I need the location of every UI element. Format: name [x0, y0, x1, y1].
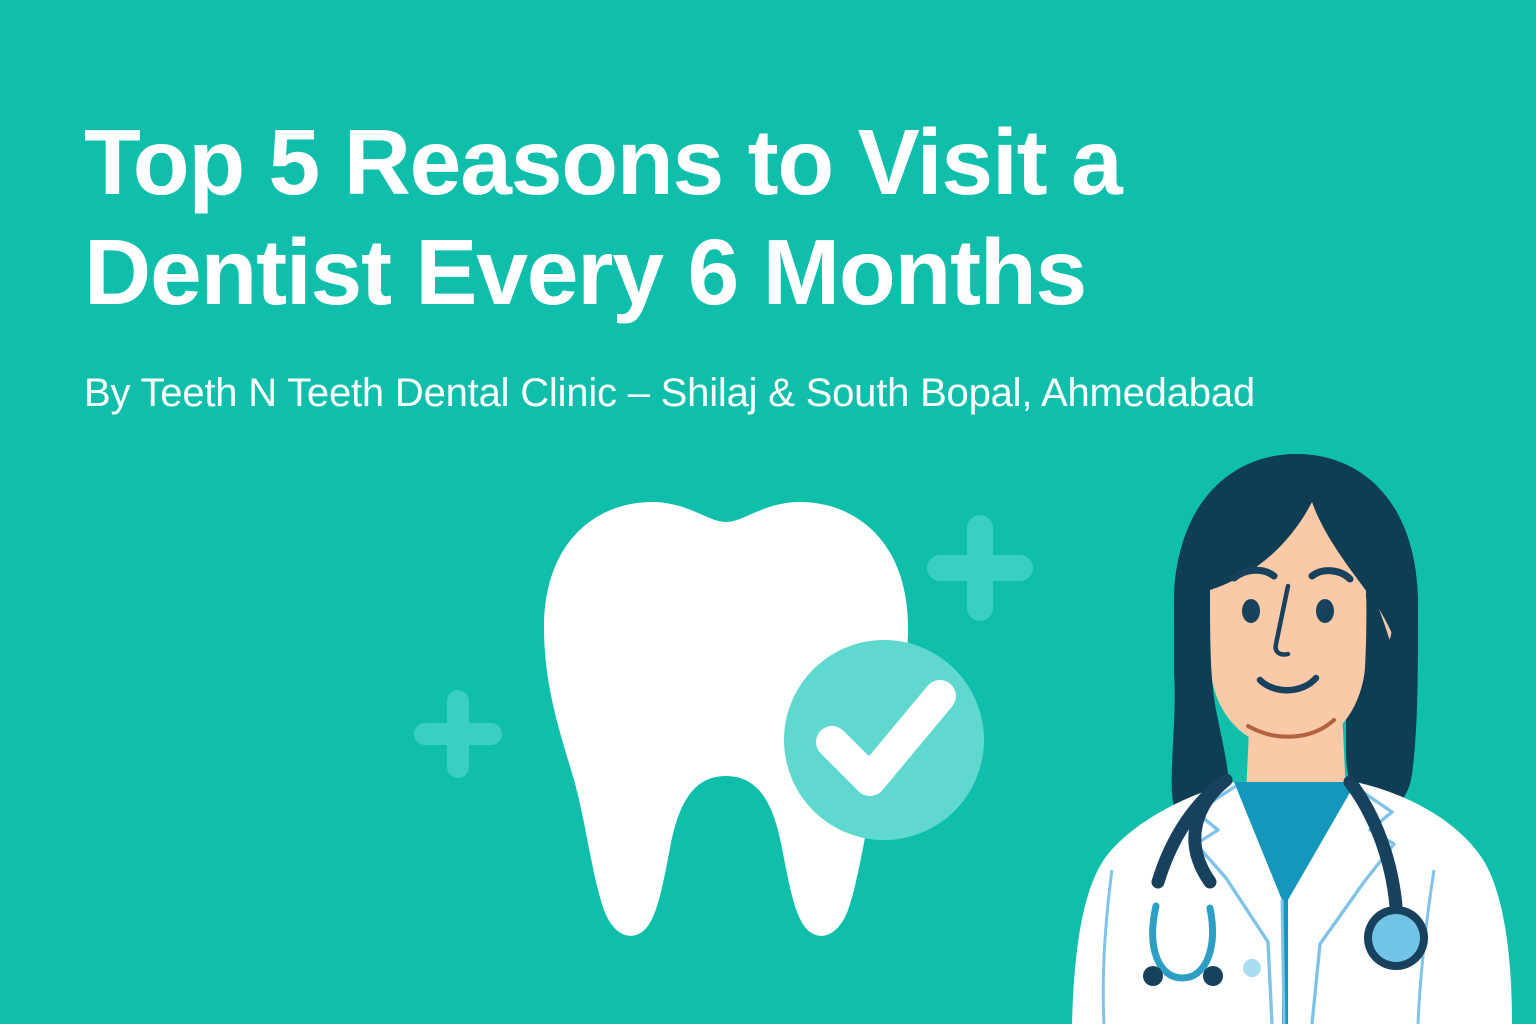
dentist-illustration	[1020, 430, 1536, 1024]
eye-left	[1242, 599, 1260, 623]
eye-right	[1316, 599, 1334, 623]
text-block: Top 5 Reasons to Visit a Dentist Every 6…	[84, 108, 1484, 417]
dental-promo-banner: Top 5 Reasons to Visit a Dentist Every 6…	[0, 0, 1536, 1024]
page-title: Top 5 Reasons to Visit a Dentist Every 6…	[84, 108, 1484, 327]
plus-icon	[927, 515, 1033, 621]
page-subtitle: By Teeth N Teeth Dental Clinic – Shilaj …	[84, 327, 1484, 417]
coat-button	[1243, 959, 1261, 977]
stethoscope-earpiece-left	[1143, 966, 1163, 986]
tooth-illustration	[400, 480, 1040, 960]
check-circle-icon	[784, 640, 984, 840]
coat-placket-line	[1282, 900, 1284, 1024]
stethoscope-earpiece-right	[1203, 966, 1223, 986]
plus-icon	[414, 690, 502, 778]
stethoscope-chestpiece	[1372, 914, 1420, 962]
